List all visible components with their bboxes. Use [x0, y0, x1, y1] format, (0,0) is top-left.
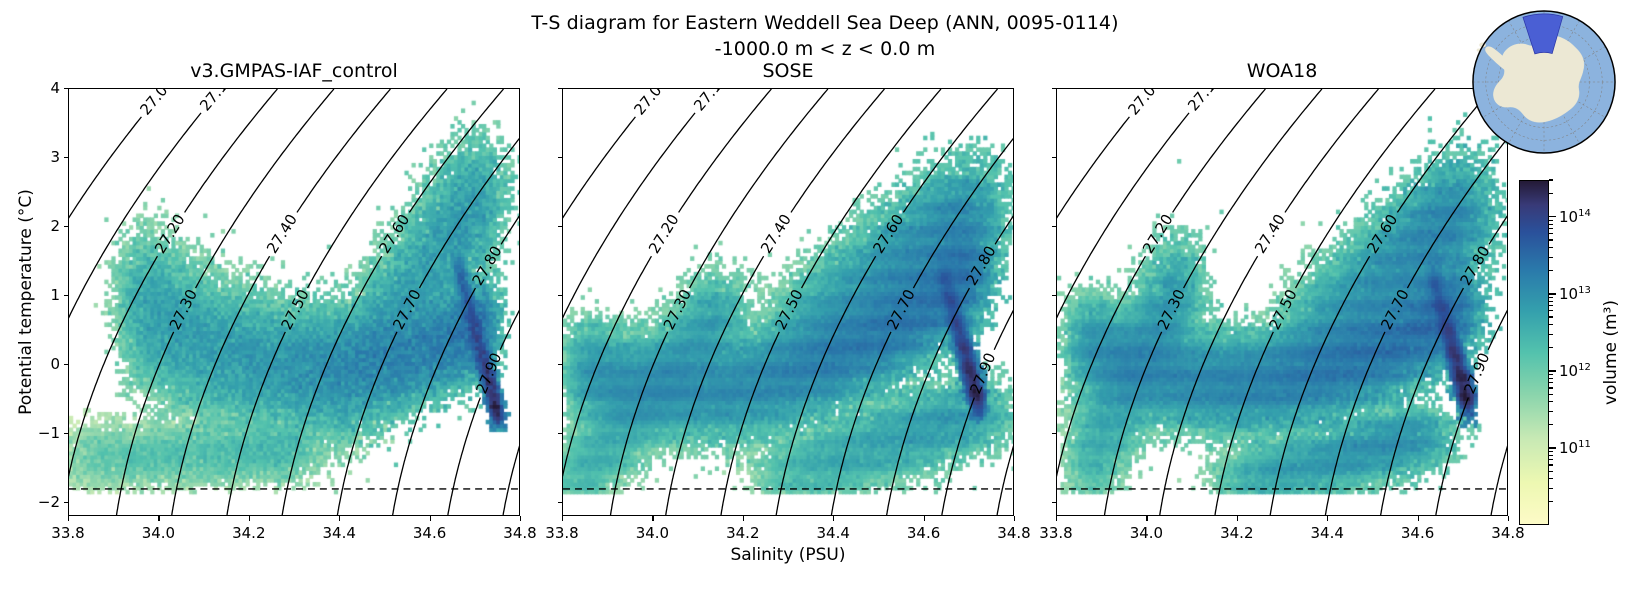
density-contour-line	[994, 89, 1013, 350]
antarctica-locator-map[interactable]	[1470, 8, 1618, 156]
y-tick-mark	[558, 226, 562, 227]
contour-label: 27.70	[883, 286, 919, 332]
colorbar-minor-tick	[1549, 464, 1553, 465]
y-tick-mark	[1052, 364, 1056, 365]
figure-root: T-S diagram for Eastern Weddell Sea Deep…	[0, 0, 1650, 600]
y-tick-mark	[558, 364, 562, 365]
contour-label: 27.70	[1377, 286, 1413, 332]
x-tick-mark	[652, 516, 653, 521]
colorbar-minor-tick	[1549, 455, 1553, 456]
density-contour-line	[69, 117, 141, 515]
panel-title-control: v3.GMPAS-IAF_control	[68, 58, 520, 84]
contour-label: 27.10	[196, 89, 237, 114]
colorbar-minor-tick	[1549, 451, 1553, 452]
y-tick-label: 3	[32, 148, 60, 166]
contour-label: 27.30	[1154, 286, 1189, 332]
x-tick-label: 34.0	[1130, 524, 1163, 542]
colorbar-minor-tick	[1549, 220, 1553, 221]
x-tick-label: 34.0	[142, 524, 175, 542]
contour-label: 27.40	[1251, 211, 1289, 257]
colorbar-label: volume (m³)	[1601, 180, 1621, 525]
contour-overlay-sose: 27.0027.1027.2027.3027.4027.5027.6027.70…	[563, 89, 1013, 515]
x-tick-mark	[1508, 516, 1509, 521]
contour-label: 27.00	[1124, 89, 1165, 118]
y-tick-mark	[558, 157, 562, 158]
contour-label: 27.50	[277, 286, 312, 332]
contour-label: 27.20	[645, 211, 683, 257]
colorbar-minor-tick	[1549, 193, 1553, 194]
x-tick-mark	[430, 516, 431, 521]
density-contour-line	[448, 398, 480, 515]
contour-label: 27.00	[136, 89, 177, 118]
contour-label: 27.20	[1139, 211, 1177, 257]
contour-label: 27.60	[869, 211, 907, 257]
y-tick-mark	[1052, 88, 1056, 89]
y-tick-label: −2	[32, 493, 60, 511]
y-tick-mark	[558, 88, 562, 89]
density-contour-line	[297, 89, 390, 212]
contour-label: 27.60	[1363, 211, 1401, 257]
x-tick-label: 34.4	[816, 524, 849, 542]
x-tick-label: 34.4	[322, 524, 355, 542]
colorbar-minor-tick	[1549, 257, 1553, 258]
density-contour-line	[1285, 89, 1378, 212]
y-tick-mark	[64, 226, 69, 227]
density-contour-line	[503, 256, 519, 515]
density-contour-line	[1105, 332, 1162, 515]
x-tick-label: 33.8	[51, 524, 84, 542]
colorbar-minor-tick	[1549, 471, 1553, 472]
colorbar-minor-tick	[1549, 501, 1553, 502]
ts-plot-control[interactable]: 27.0027.1027.2027.3027.4027.5027.6027.70…	[68, 88, 520, 516]
colorbar-minor-tick	[1549, 224, 1553, 225]
antarctica-map-svg	[1470, 8, 1618, 156]
density-contour-line	[791, 89, 884, 212]
density-contour-line	[117, 332, 174, 515]
colorbar-minor-tick	[1549, 270, 1553, 271]
x-tick-mark	[1418, 516, 1419, 521]
figure-suptitle: T-S diagram for Eastern Weddell Sea Deep…	[0, 10, 1650, 62]
x-tick-mark	[339, 516, 340, 521]
y-tick-mark	[1052, 226, 1056, 227]
colorbar[interactable]	[1519, 180, 1549, 525]
colorbar-minor-tick	[1549, 374, 1553, 375]
colorbar-major-tick	[1549, 447, 1556, 448]
y-tick-label: 2	[32, 217, 60, 235]
colorbar-minor-tick	[1549, 459, 1553, 460]
contour-label: 27.10	[1184, 89, 1225, 114]
x-tick-mark	[743, 516, 744, 521]
y-tick-mark	[64, 295, 69, 296]
contour-label: 27.50	[771, 286, 806, 332]
density-contour-line	[185, 89, 278, 212]
x-tick-mark	[1327, 516, 1328, 521]
density-contour-line	[995, 89, 1013, 244]
x-tick-mark	[249, 516, 250, 521]
density-contour-line	[942, 398, 974, 515]
colorbar-minor-tick	[1549, 478, 1553, 479]
density-contour-line	[831, 332, 891, 515]
colorbar-tick-label: 1012	[1559, 362, 1591, 380]
density-contour-line	[69, 256, 157, 515]
x-tick-label: 33.8	[1039, 524, 1072, 542]
x-tick-label: 34.6	[413, 524, 446, 542]
y-tick-mark	[64, 88, 69, 89]
colorbar-minor-tick	[1549, 233, 1553, 234]
panel-title-woa18: WOA18	[1056, 58, 1508, 84]
contour-label: 27.90	[966, 350, 999, 396]
colorbar-minor-tick	[1549, 179, 1553, 180]
contour-label: 27.30	[660, 286, 695, 332]
contour-label: 27.20	[151, 211, 189, 257]
y-tick-mark	[558, 433, 562, 434]
colorbar-minor-tick	[1549, 301, 1553, 302]
contour-label: 27.40	[757, 211, 795, 257]
y-tick-mark	[558, 295, 562, 296]
colorbar-major-tick	[1549, 293, 1556, 294]
contour-label: 27.90	[472, 350, 505, 396]
x-tick-mark	[1237, 516, 1238, 521]
colorbar-tick-label: 1014	[1559, 208, 1591, 226]
y-tick-mark	[1052, 295, 1056, 296]
colorbar-minor-tick	[1549, 401, 1553, 402]
colorbar-minor-tick	[1549, 488, 1553, 489]
x-tick-mark	[562, 516, 563, 521]
x-tick-mark	[1146, 516, 1147, 521]
y-tick-mark	[64, 157, 69, 158]
density-contour-line	[1436, 398, 1468, 515]
contour-label: 27.80	[468, 243, 505, 289]
colorbar-tick-label: 1011	[1559, 439, 1591, 457]
x-tick-mark	[833, 516, 834, 521]
colorbar-minor-tick	[1549, 239, 1553, 240]
colorbar-major-tick	[1549, 370, 1556, 371]
density-contour-line	[409, 89, 503, 212]
x-tick-mark	[68, 516, 69, 521]
x-tick-label: 34.4	[1310, 524, 1343, 542]
density-contour-line	[419, 89, 519, 288]
contour-label: 27.40	[263, 211, 301, 257]
x-tick-mark	[158, 516, 159, 521]
density-contour-line	[997, 256, 1013, 515]
panel-title-sose: SOSE	[562, 58, 1014, 84]
density-contour-line	[1325, 332, 1385, 515]
colorbar-minor-tick	[1549, 316, 1553, 317]
colorbar-minor-tick	[1549, 297, 1553, 298]
density-contour-line	[337, 332, 397, 515]
y-tick-label: 1	[32, 286, 60, 304]
y-tick-mark	[1052, 433, 1056, 434]
y-axis-label: Potential temperature (°C)	[16, 88, 36, 516]
y-tick-mark	[1052, 502, 1056, 503]
density-contour-line	[611, 332, 668, 515]
colorbar-minor-tick	[1549, 347, 1553, 348]
density-contour-line	[563, 117, 635, 515]
x-tick-label: 34.2	[232, 524, 265, 542]
x-tick-label: 34.8	[503, 524, 536, 542]
contour-label: 27.80	[962, 243, 999, 289]
ts-plot-woa18[interactable]: 27.0027.1027.2027.3027.4027.5027.6027.70…	[1056, 88, 1508, 516]
x-tick-label: 34.2	[726, 524, 759, 542]
contour-label: 27.10	[690, 89, 731, 114]
contour-overlay-woa18: 27.0027.1027.2027.3027.4027.5027.6027.70…	[1057, 89, 1507, 515]
y-tick-mark	[64, 364, 69, 365]
colorbar-minor-tick	[1549, 324, 1553, 325]
x-tick-label: 34.8	[997, 524, 1030, 542]
density-contour-line	[563, 256, 651, 515]
density-contour-line	[500, 89, 519, 350]
y-tick-mark	[64, 502, 69, 503]
y-tick-mark	[558, 502, 562, 503]
x-tick-label: 34.6	[907, 524, 940, 542]
colorbar-minor-tick	[1549, 305, 1553, 306]
density-contour-line	[721, 332, 779, 515]
colorbar-minor-tick	[1549, 334, 1553, 335]
x-tick-label: 33.8	[545, 524, 578, 542]
suptitle-line-1: T-S diagram for Eastern Weddell Sea Deep…	[531, 12, 1118, 34]
x-tick-label: 34.2	[1220, 524, 1253, 542]
x-tick-label: 34.8	[1491, 524, 1524, 542]
x-tick-label: 34.0	[636, 524, 669, 542]
x-tick-mark	[1056, 516, 1057, 521]
density-contour-line	[1057, 256, 1145, 515]
y-tick-label: 4	[32, 79, 60, 97]
colorbar-minor-tick	[1549, 424, 1553, 425]
colorbar-minor-tick	[1549, 378, 1553, 379]
colorbar-minor-tick	[1549, 394, 1553, 395]
colorbar-minor-tick	[1549, 382, 1553, 383]
density-contour-line	[1173, 89, 1266, 212]
contour-label: 27.30	[166, 286, 201, 332]
density-contour-line	[913, 89, 1013, 288]
colorbar-minor-tick	[1549, 228, 1553, 229]
density-contour-line	[679, 89, 772, 212]
contour-label: 27.80	[1456, 243, 1493, 289]
contour-label: 27.50	[1265, 286, 1300, 332]
colorbar-tick-label: 1013	[1559, 285, 1591, 303]
x-tick-mark	[924, 516, 925, 521]
y-tick-mark	[1052, 157, 1056, 158]
colorbar-minor-tick	[1549, 411, 1553, 412]
y-tick-label: 0	[32, 355, 60, 373]
colorbar-minor-tick	[1549, 247, 1553, 248]
density-contour-line	[1491, 256, 1507, 515]
density-contour-line	[1215, 332, 1273, 515]
x-tick-label: 34.6	[1401, 524, 1434, 542]
y-tick-mark	[64, 433, 69, 434]
y-tick-label: −1	[32, 424, 60, 442]
density-contour-line	[501, 89, 519, 244]
contour-label: 27.00	[630, 89, 671, 118]
x-tick-mark	[1014, 516, 1015, 521]
contour-label: 27.70	[389, 286, 425, 332]
colorbar-minor-tick	[1549, 387, 1553, 388]
x-axis-label: Salinity (PSU)	[68, 545, 1508, 565]
colorbar-major-tick	[1549, 216, 1556, 217]
contour-label: 27.90	[1460, 350, 1493, 396]
colorbar-minor-tick	[1549, 310, 1553, 311]
density-contour-line	[903, 89, 997, 212]
contour-label: 27.60	[375, 211, 413, 257]
density-contour-line	[227, 332, 285, 515]
density-contour-line	[1057, 117, 1129, 515]
ts-plot-sose[interactable]: 27.0027.1027.2027.3027.4027.5027.6027.70…	[562, 88, 1014, 516]
contour-overlay-control: 27.0027.1027.2027.3027.4027.5027.6027.70…	[69, 89, 519, 515]
x-tick-mark	[520, 516, 521, 521]
